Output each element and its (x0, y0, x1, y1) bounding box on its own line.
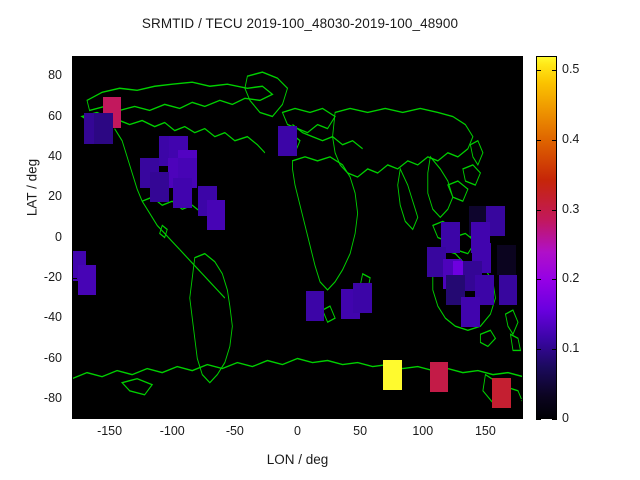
colorbar-tick-mark (536, 279, 541, 280)
chart-title: SRMTID / TECU 2019-100_48030-2019-100_48… (0, 16, 600, 31)
y-tick-label: -40 (18, 310, 62, 324)
x-tick-label: 150 (455, 424, 515, 438)
heatmap-cell (306, 291, 325, 321)
x-tick-mark (485, 56, 486, 61)
y-tick-label: -80 (18, 391, 62, 405)
y-tick-mark (518, 157, 523, 158)
y-tick-mark (72, 76, 77, 77)
y-tick-label: 40 (18, 149, 62, 163)
x-tick-mark (172, 56, 173, 61)
colorbar-tick-mark (536, 349, 541, 350)
y-tick-mark (518, 76, 523, 77)
y-tick-mark (518, 278, 523, 279)
y-tick-mark (518, 117, 523, 118)
colorbar-tick-label: 0.2 (562, 271, 579, 285)
y-tick-mark (518, 197, 523, 198)
heatmap-cell (353, 283, 372, 313)
y-tick-mark (72, 117, 77, 118)
x-tick-mark (298, 414, 299, 419)
colorbar-tick-mark (536, 70, 541, 71)
heatmap-cell (430, 362, 449, 392)
heatmap-cell (94, 113, 113, 143)
heatmap-cell (78, 265, 97, 295)
colorbar-tick-label: 0.4 (562, 132, 579, 146)
x-axis-label: LON / deg (72, 452, 523, 467)
plot-area (72, 56, 523, 419)
y-tick-label: 80 (18, 68, 62, 82)
y-tick-mark (72, 359, 77, 360)
colorbar-tick-label: 0.1 (562, 341, 579, 355)
heatmap-cell (383, 360, 402, 390)
heatmap-cell (278, 126, 297, 156)
colorbar-tick-label: 0.3 (562, 202, 579, 216)
figure-canvas: SRMTID / TECU 2019-100_48030-2019-100_48… (0, 0, 640, 480)
x-tick-mark (298, 56, 299, 61)
x-tick-label: -150 (80, 424, 140, 438)
colorbar-tick-mark (552, 210, 557, 211)
y-tick-label: -20 (18, 270, 62, 284)
colorbar-tick-mark (552, 279, 557, 280)
colorbar-tick-mark (536, 419, 541, 420)
y-tick-label: 20 (18, 189, 62, 203)
y-tick-mark (72, 238, 77, 239)
y-tick-mark (518, 318, 523, 319)
y-tick-label: 60 (18, 109, 62, 123)
x-tick-mark (360, 414, 361, 419)
x-tick-mark (235, 56, 236, 61)
colorbar-tick-label: 0.5 (562, 62, 579, 76)
y-tick-mark (72, 399, 77, 400)
heatmap-cell (173, 178, 192, 208)
y-tick-mark (72, 157, 77, 158)
x-tick-label: 50 (330, 424, 390, 438)
colorbar-tick-mark (552, 349, 557, 350)
heatmap-cell (150, 172, 169, 202)
x-tick-mark (360, 56, 361, 61)
x-tick-label: 100 (393, 424, 453, 438)
y-tick-mark (72, 318, 77, 319)
y-tick-mark (72, 278, 77, 279)
heatmap-cells (72, 56, 523, 419)
y-tick-label: 0 (18, 230, 62, 244)
x-tick-mark (235, 414, 236, 419)
x-tick-mark (423, 414, 424, 419)
heatmap-cell (499, 275, 518, 305)
x-tick-mark (110, 414, 111, 419)
colorbar-tick-mark (552, 419, 557, 420)
colorbar (536, 56, 557, 419)
colorbar-tick-mark (552, 70, 557, 71)
x-tick-mark (110, 56, 111, 61)
colorbar-tick-mark (536, 210, 541, 211)
colorbar-tick-mark (552, 140, 557, 141)
x-tick-label: 0 (268, 424, 328, 438)
colorbar-tick-mark (536, 140, 541, 141)
y-axis-label: LAT / deg (25, 108, 40, 268)
heatmap-cell (492, 378, 511, 408)
x-tick-mark (172, 414, 173, 419)
y-tick-label: -60 (18, 351, 62, 365)
heatmap-cell (497, 245, 516, 275)
y-tick-mark (518, 399, 523, 400)
colorbar-tick-label: 0 (562, 411, 569, 425)
x-tick-label: -100 (142, 424, 202, 438)
x-tick-mark (423, 56, 424, 61)
x-tick-mark (485, 414, 486, 419)
y-tick-mark (72, 197, 77, 198)
heatmap-cell (207, 200, 226, 230)
x-tick-label: -50 (205, 424, 265, 438)
y-tick-mark (518, 359, 523, 360)
heatmap-cell (461, 297, 480, 327)
y-tick-mark (518, 238, 523, 239)
